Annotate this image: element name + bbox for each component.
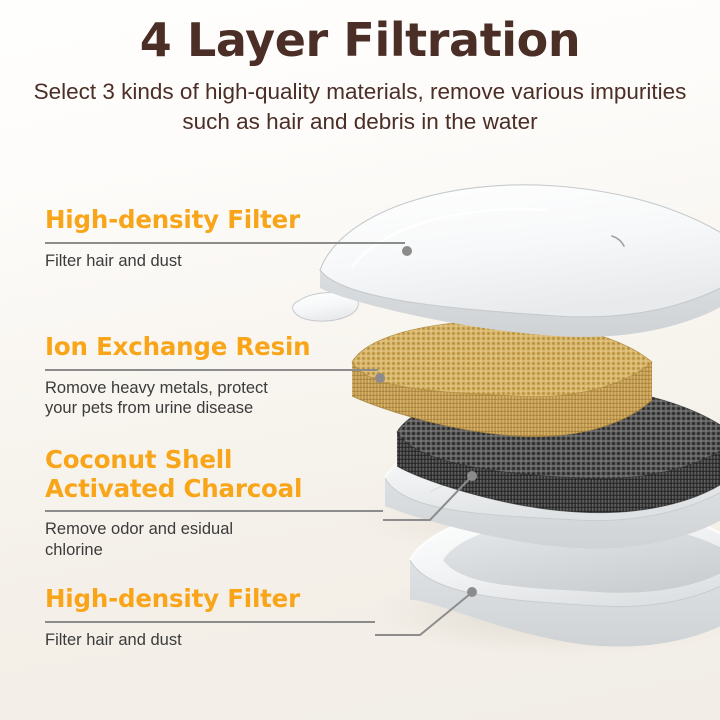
callout-title: High-density Filter	[45, 206, 405, 235]
layer-ion-exchange-resin-mesh	[352, 321, 652, 436]
filtration-infographic: 4 Layer Filtration Select 3 kinds of hig…	[0, 0, 720, 720]
leader-dot-3	[467, 471, 477, 481]
callout-title: High-density Filter	[45, 585, 375, 614]
layer-activated-charcoal-mesh	[397, 385, 720, 512]
callout-description: Filter hair and dust	[45, 623, 375, 651]
callout-ion-exchange-resin: Ion Exchange Resin Romove heavy metals, …	[45, 333, 378, 419]
leader-line-3	[383, 478, 470, 520]
page-title: 4 Layer Filtration	[0, 0, 720, 67]
callout-high-density-filter-bottom: High-density Filter Filter hair and dust	[45, 585, 375, 650]
callout-title: Coconut Shell Activated Charcoal	[45, 446, 383, 503]
shadow-under-stack	[370, 568, 720, 656]
header: 4 Layer Filtration Select 3 kinds of hig…	[0, 0, 720, 137]
callout-coconut-shell-activated-charcoal: Coconut Shell Activated Charcoal Remove …	[45, 446, 383, 561]
layer-mid-filter-disc	[385, 424, 720, 549]
callout-description: Romove heavy metals, protect your pets f…	[45, 371, 378, 420]
layer-bottom-tray	[410, 504, 720, 647]
callout-description: Filter hair and dust	[45, 244, 405, 272]
page-subtitle: Select 3 kinds of high-quality materials…	[30, 67, 690, 136]
callout-description: Remove odor and esidual chlorine	[45, 512, 383, 561]
leader-line-4	[375, 594, 470, 635]
shadow-under-mid	[355, 482, 705, 558]
callout-high-density-filter-top: High-density Filter Filter hair and dust	[45, 206, 405, 271]
leader-dot-4	[467, 587, 477, 597]
callout-title: Ion Exchange Resin	[45, 333, 378, 362]
